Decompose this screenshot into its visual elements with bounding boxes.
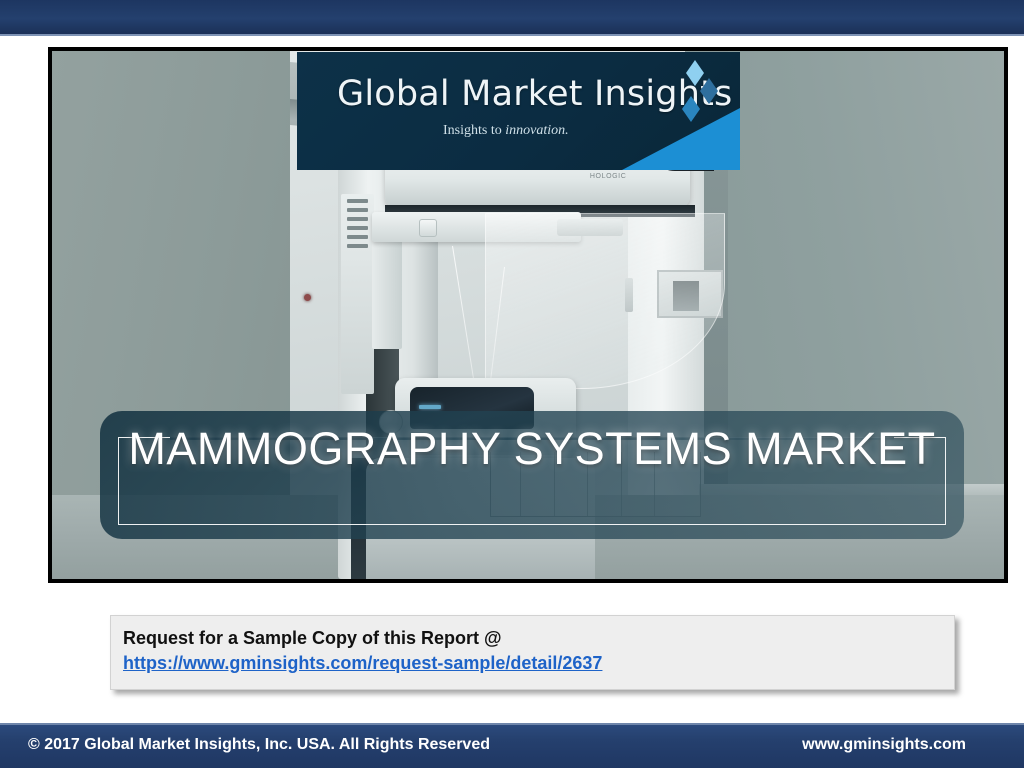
logo-accent-triangle [622,108,740,170]
tagline-prefix: Insights to [443,123,505,138]
slide-image-frame: Selenia HOLOGIC Global Market Insights I… [48,47,1008,583]
logo-diamond-icon-bottom [682,96,700,122]
company-logo-banner: Global Market Insights Insights to innov… [297,52,740,170]
website-url: www.gminsights.com [802,736,966,754]
slide-footer: © 2017 Global Market Insights, Inc. USA.… [0,723,1024,768]
logo-diamond-icon-right [700,78,718,104]
request-sample-link[interactable]: https://www.gminsights.com/request-sampl… [123,653,602,674]
report-title-banner: MAMMOGRAPHY SYSTEMS MARKET [100,411,964,539]
top-decorative-bar [0,0,1024,36]
company-tagline: Insights to innovation. [443,123,569,139]
request-sample-heading: Request for a Sample Copy of this Report… [123,625,954,651]
mammography-room-photo: Selenia HOLOGIC Global Market Insights I… [52,51,1004,579]
machine-arm-knob [419,219,437,237]
company-name: Global Market Insights [337,74,732,114]
copyright-text: © 2017 Global Market Insights, Inc. USA.… [28,736,490,754]
request-sample-box: Request for a Sample Copy of this Report… [110,615,955,690]
tagline-emphasis: innovation. [505,123,568,138]
machine-detector-indicator [419,405,441,409]
page-title: MAMMOGRAPHY SYSTEMS MARKET [100,423,964,475]
machine-brand-label: HOLOGIC [590,173,626,180]
machine-control-panel [341,194,373,395]
